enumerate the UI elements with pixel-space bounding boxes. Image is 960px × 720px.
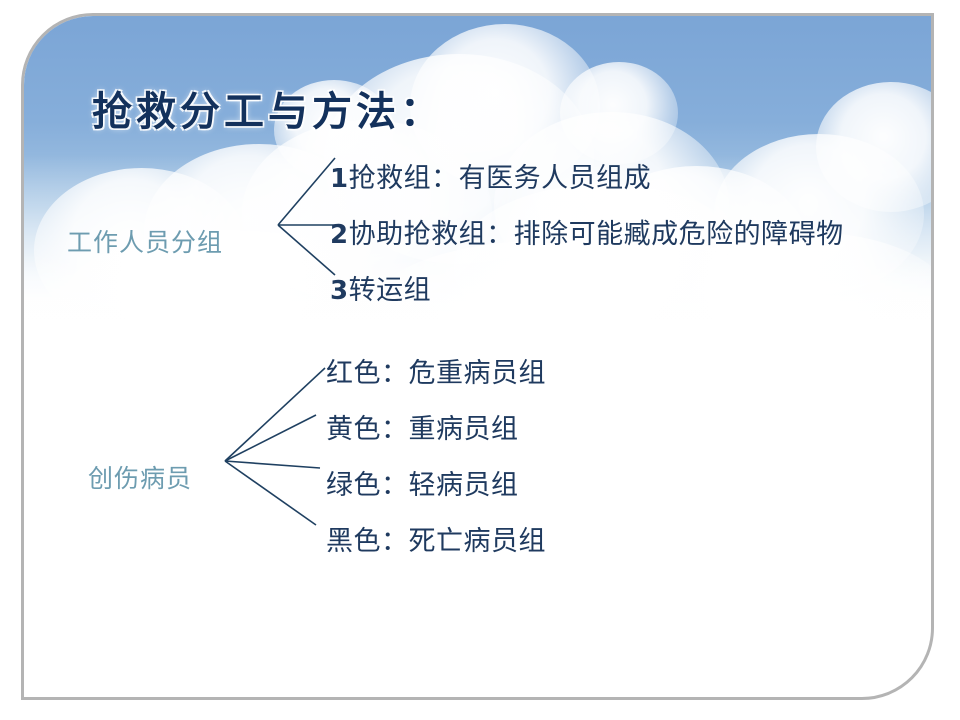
cloud-shape: [454, 184, 754, 349]
branch-item-text: 黄色：重病员组: [326, 414, 519, 444]
branch-item-number: 3: [330, 276, 349, 306]
branch-item: 黑色：死亡病员组: [326, 519, 546, 558]
branch-item-number: 2: [330, 220, 349, 250]
branch-item: 绿色：轻病员组: [326, 463, 519, 502]
cloud-shape: [816, 82, 934, 212]
branch-item-text: 转运组: [349, 275, 432, 305]
page-title: 抢救分工与方法：: [92, 79, 444, 137]
branch-item-text: 抢救组：有医务人员组成: [349, 163, 652, 193]
connector-line: [225, 415, 316, 461]
branch-item: 3转运组: [330, 268, 431, 307]
group-label-patients: 创伤病员: [88, 459, 192, 495]
slide-root: 抢救分工与方法： 工作人员分组 1抢救组：有医务人员组成 2协助抢救组：排除可能…: [0, 0, 960, 720]
sky-fade-overlay: [24, 252, 931, 362]
branch-item-text: 黑色：死亡病员组: [326, 526, 546, 556]
slide-frame: 抢救分工与方法： 工作人员分组 1抢救组：有医务人员组成 2协助抢救组：排除可能…: [21, 13, 934, 700]
branch-item-text: 绿色：轻病员组: [326, 470, 519, 500]
branch-item-number: 1: [330, 164, 349, 194]
branch-item: 2协助抢救组：排除可能臧成危险的障碍物: [330, 212, 844, 251]
cloud-shape: [660, 232, 934, 367]
connector-line: [225, 461, 316, 525]
cloud-shape: [560, 62, 678, 164]
branch-item-text: 协助抢救组：排除可能臧成危险的障碍物: [349, 219, 844, 249]
connector-line: [225, 368, 325, 461]
branch-item: 1抢救组：有医务人员组成: [330, 156, 651, 195]
group-label-staff: 工作人员分组: [67, 223, 223, 259]
branch-item-text: 红色：危重病员组: [326, 358, 546, 388]
branch-item: 黄色：重病员组: [326, 407, 519, 446]
connector-line: [225, 461, 320, 468]
cloud-shape: [494, 112, 729, 297]
branch-item: 红色：危重病员组: [326, 351, 546, 390]
